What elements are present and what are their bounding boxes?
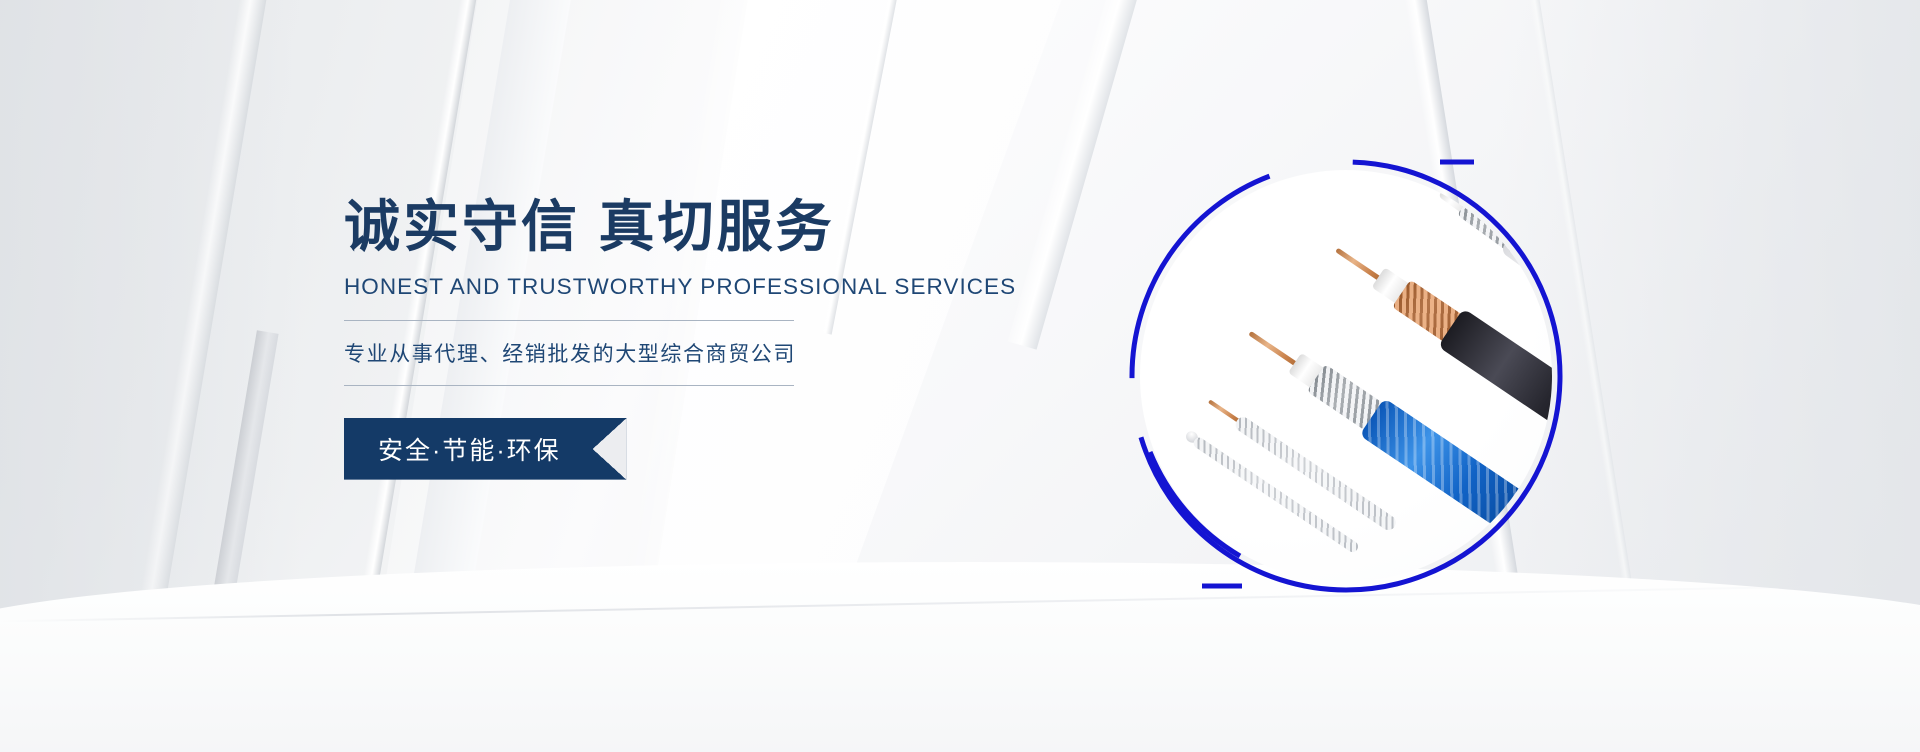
hero-headline: 诚实守信 真切服务 <box>344 196 964 258</box>
divider-bottom <box>344 385 794 386</box>
product-medallion: RG-6 <box>1122 152 1570 600</box>
hero-tagline: 专业从事代理、经销批发的大型综合商贸公司 <box>344 338 964 368</box>
ring-arc-accent <box>1150 452 1240 556</box>
ribbon-container: 安全·节能·环保 <box>344 418 964 480</box>
hero-banner: 诚实守信 真切服务 HONEST AND TRUSTWORTHY PROFESS… <box>0 0 1920 752</box>
feature-ribbon-badge[interactable]: 安全·节能·环保 <box>344 418 627 480</box>
hero-subheadline: HONEST AND TRUSTWORTHY PROFESSIONAL SERV… <box>344 274 964 300</box>
medallion-ring <box>1122 152 1570 600</box>
divider-top <box>344 320 794 321</box>
ring-arc-primary <box>1132 162 1560 590</box>
hero-copy-block: 诚实守信 真切服务 HONEST AND TRUSTWORTHY PROFESS… <box>344 196 964 480</box>
